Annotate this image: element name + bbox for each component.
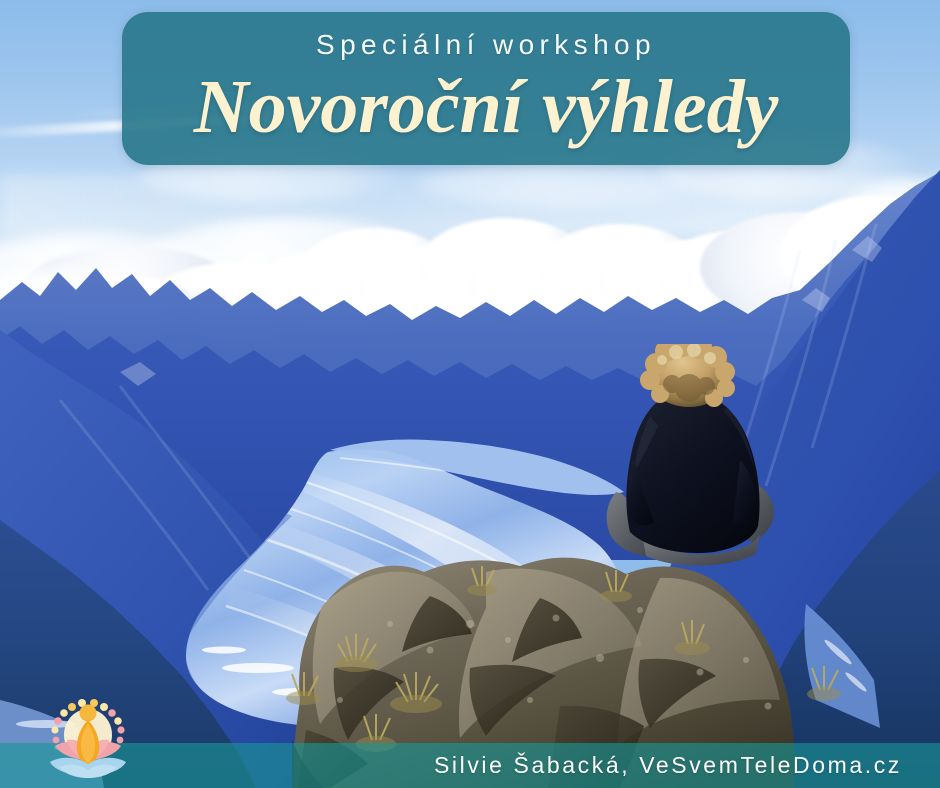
credit-text[interactable]: Silvie Šabacká, VeSvemTeleDoma.cz bbox=[434, 752, 902, 779]
kicker-text: Speciální workshop bbox=[316, 30, 656, 61]
credit-banner: Silvie Šabacká, VeSvemTeleDoma.cz bbox=[0, 743, 940, 788]
headline-text: Novoroční výhledy bbox=[194, 63, 779, 153]
lotus-logo[interactable] bbox=[42, 694, 134, 780]
poster-canvas: Speciální workshop Novoroční výhledy Sil… bbox=[0, 0, 940, 788]
title-banner: Speciální workshop Novoroční výhledy bbox=[122, 12, 850, 165]
